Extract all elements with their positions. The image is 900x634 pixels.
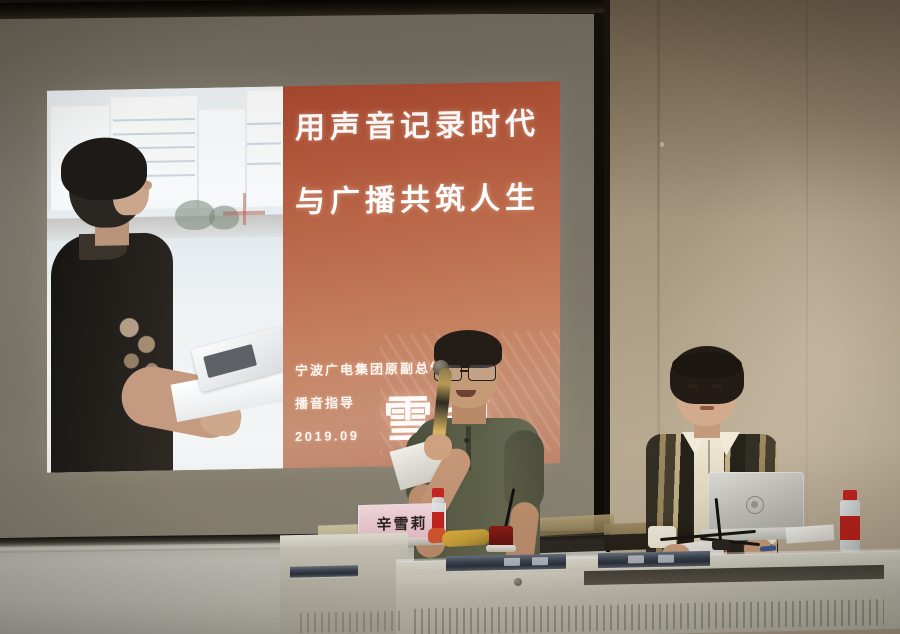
assistant-eye — [712, 384, 722, 388]
slide-title-line1: 用声音记录时代 — [295, 108, 540, 145]
drawer-tab — [658, 555, 674, 563]
drawer-rail[interactable] — [290, 565, 358, 577]
photo-woman-figure — [51, 140, 179, 472]
name-plate-text: 辛雪莉 — [376, 512, 427, 534]
slide-title-line2: 与广播共筑人生 — [295, 183, 560, 218]
male-speaker — [404, 334, 550, 584]
photo-tree — [209, 205, 239, 230]
screen-right-edge — [594, 0, 604, 552]
eyeglass-bridge — [460, 370, 468, 372]
drawer-rail[interactable] — [446, 554, 566, 572]
laptop-lid — [708, 472, 804, 532]
water-bottle — [840, 490, 860, 552]
drawer-tab — [628, 555, 644, 563]
speaker-hand — [424, 434, 452, 460]
dell-logo-icon — [746, 496, 764, 514]
microphone-base — [712, 540, 730, 550]
photo-phone-screen — [203, 344, 257, 378]
photo-woman-hair — [61, 137, 147, 201]
speaker-button — [464, 438, 469, 443]
assistant-eye — [688, 384, 698, 388]
photo-crane — [223, 211, 265, 216]
photograph-scene: 用声音记录时代 与广播共筑人生 雪莉 宁波广电集团原副总编 播音指导 2019.… — [0, 0, 900, 634]
bottle-label — [840, 516, 860, 540]
photo-building — [247, 90, 283, 207]
drawer-rail[interactable] — [598, 551, 710, 568]
photo-building — [199, 109, 245, 208]
slide-photo — [47, 86, 283, 472]
podium-vent — [300, 611, 400, 633]
desk-papers — [786, 524, 835, 543]
table-item — [442, 529, 490, 548]
assistant-mouth — [700, 406, 714, 410]
podium-lock-icon[interactable] — [514, 578, 522, 586]
drawer-tab — [504, 558, 520, 566]
slide-title: 用声音记录时代 与广播共筑人生 — [295, 109, 560, 218]
drawer-tab — [532, 557, 548, 565]
photo-crane — [243, 193, 246, 225]
eyeglass-lens — [468, 364, 496, 381]
microphone-base-ring — [486, 545, 516, 552]
assistant-fringe — [672, 352, 742, 378]
